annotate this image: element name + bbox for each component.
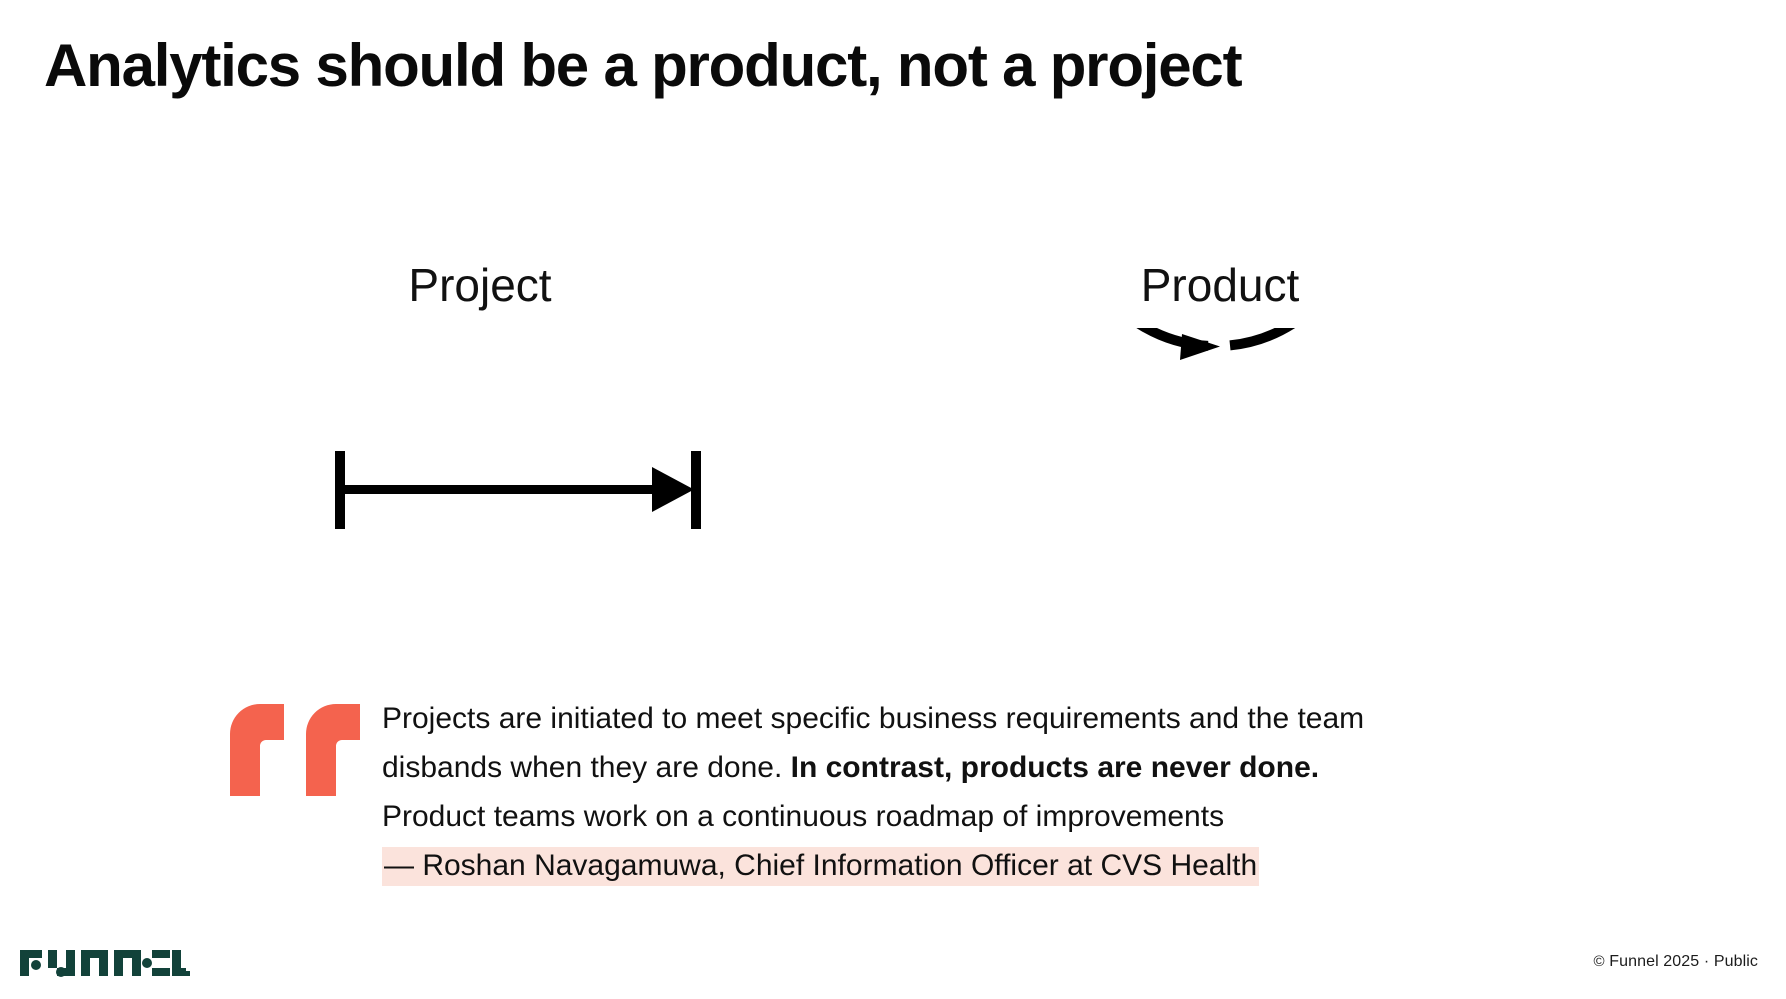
quote-attribution: — Roshan Navagamuwa, Chief Information O… xyxy=(382,847,1259,886)
quote-line-3: Product teams work on a continuous roadm… xyxy=(382,792,1582,841)
copyright-icon: © xyxy=(1594,953,1605,970)
column-label-product: Product xyxy=(1080,258,1360,312)
quote-line-2-emphasis: In contrast, products are never done. xyxy=(791,751,1319,784)
quote-glyph xyxy=(226,700,366,800)
quote-attribution-line: — Roshan Navagamuwa, Chief Information O… xyxy=(382,841,1582,890)
quote-line-2-plain: disbands when they are done. xyxy=(382,751,791,784)
quote-text: Projects are initiated to meet specific … xyxy=(382,694,1582,890)
project-linear-arrow-diagram xyxy=(322,438,762,548)
loop-arrow-icon xyxy=(1060,328,1380,648)
funnel-logo xyxy=(20,946,190,980)
footer-copyright: © Funnel 2025 · Public xyxy=(1594,953,1758,971)
product-circular-arrow-diagram xyxy=(1060,328,1380,648)
copyright-text: Funnel 2025 · Public xyxy=(1609,953,1758,970)
column-label-project: Project xyxy=(340,258,620,312)
opening-quote-icon xyxy=(226,700,366,800)
quote-line-2: disbands when they are done. In contrast… xyxy=(382,743,1582,792)
funnel-logo-icon xyxy=(20,946,190,980)
page-title: Analytics should be a product, not a pro… xyxy=(44,30,1241,102)
linear-arrow-icon xyxy=(322,438,762,548)
quote-line-1: Projects are initiated to meet specific … xyxy=(382,694,1582,743)
